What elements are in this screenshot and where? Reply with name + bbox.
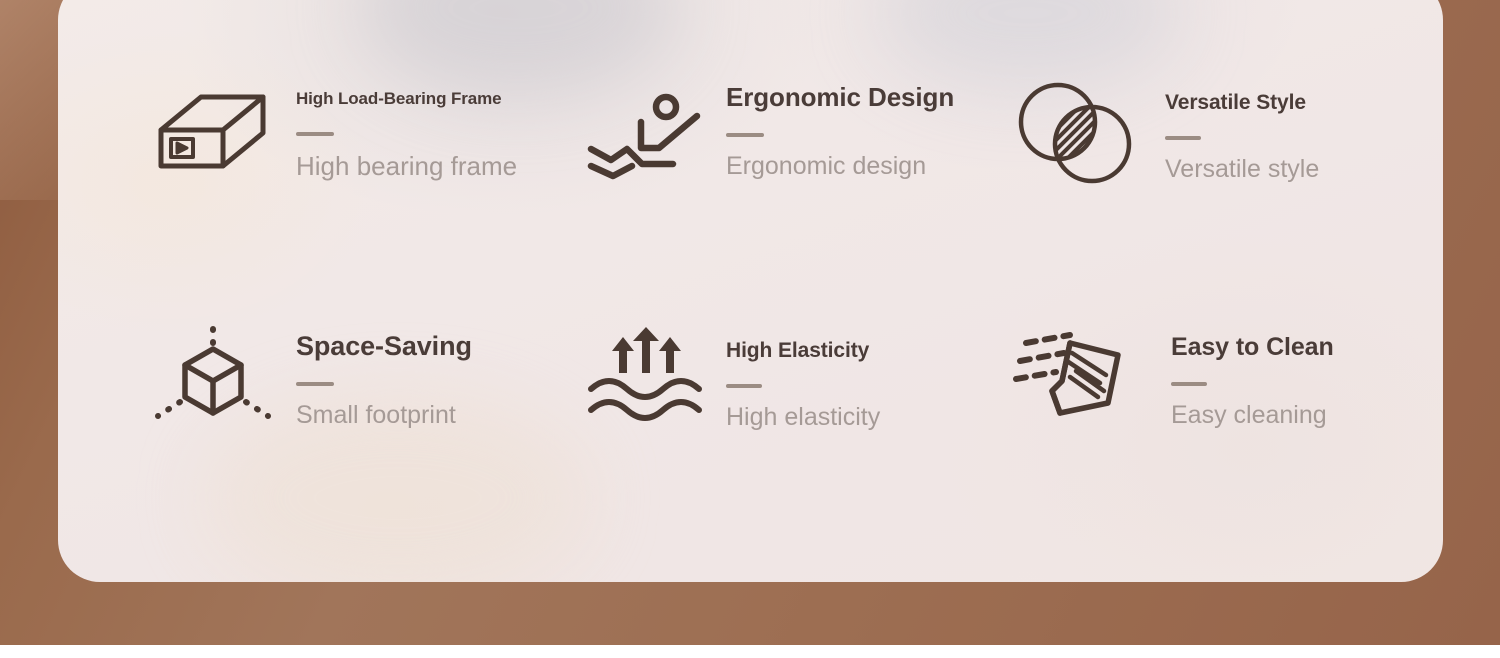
feature-divider — [726, 133, 764, 137]
feature-item-easy-to-clean: Easy to Clean Easy cleaning — [1003, 318, 1334, 429]
feature-grid: High Load-Bearing Frame High bearing fra… — [58, 0, 1443, 582]
feature-item-high-elasticity: High Elasticity High elasticity — [576, 318, 880, 430]
feature-title: Versatile Style — [1165, 92, 1319, 114]
feature-item-high-load-bearing-frame: High Load-Bearing Frame High bearing fra… — [138, 74, 517, 180]
feature-divider — [296, 132, 334, 136]
feature-title: Space-Saving — [296, 332, 472, 360]
cube-compact-icon — [138, 320, 288, 430]
feature-subtitle: Small footprint — [296, 402, 472, 428]
arrows-waves-icon — [576, 324, 716, 429]
feature-divider — [296, 382, 334, 386]
feature-subtitle: Versatile style — [1165, 156, 1319, 182]
feature-subtitle: High elasticity — [726, 404, 880, 430]
feature-text-block: Versatile Style Versatile style — [1165, 74, 1319, 182]
feature-text-block: Easy to Clean Easy cleaning — [1171, 318, 1334, 429]
feature-card: High Load-Bearing Frame High bearing fra… — [58, 0, 1443, 582]
feature-divider — [1165, 136, 1201, 140]
feature-item-space-saving: Space-Saving Small footprint — [138, 318, 472, 430]
feature-title: Ergonomic Design — [726, 84, 954, 111]
feature-item-versatile-style: Versatile Style Versatile style — [1008, 74, 1319, 185]
feature-divider — [726, 384, 762, 388]
bottom-white-strip — [0, 645, 1500, 658]
feature-subtitle: Ergonomic design — [726, 153, 954, 179]
hand-wiping-cloth-icon — [1003, 322, 1143, 427]
feature-title: Easy to Clean — [1171, 334, 1334, 360]
feature-divider — [1171, 382, 1207, 386]
feature-subtitle: Easy cleaning — [1171, 402, 1334, 428]
feature-text-block: High Load-Bearing Frame High bearing fra… — [296, 74, 517, 180]
feature-text-block: Ergonomic Design Ergonomic design — [726, 74, 954, 180]
overlapping-circles-icon — [1008, 80, 1143, 185]
feature-subtitle: High bearing frame — [296, 153, 517, 180]
feature-text-block: High Elasticity High elasticity — [726, 318, 880, 430]
feature-title: High Load-Bearing Frame — [296, 90, 517, 108]
feature-item-ergonomic-design: Ergonomic Design Ergonomic design — [576, 74, 954, 184]
reclining-person-icon — [576, 84, 716, 184]
box-frame-icon — [138, 80, 288, 180]
feature-text-block: Space-Saving Small footprint — [296, 318, 472, 429]
feature-title: High Elasticity — [726, 340, 880, 362]
